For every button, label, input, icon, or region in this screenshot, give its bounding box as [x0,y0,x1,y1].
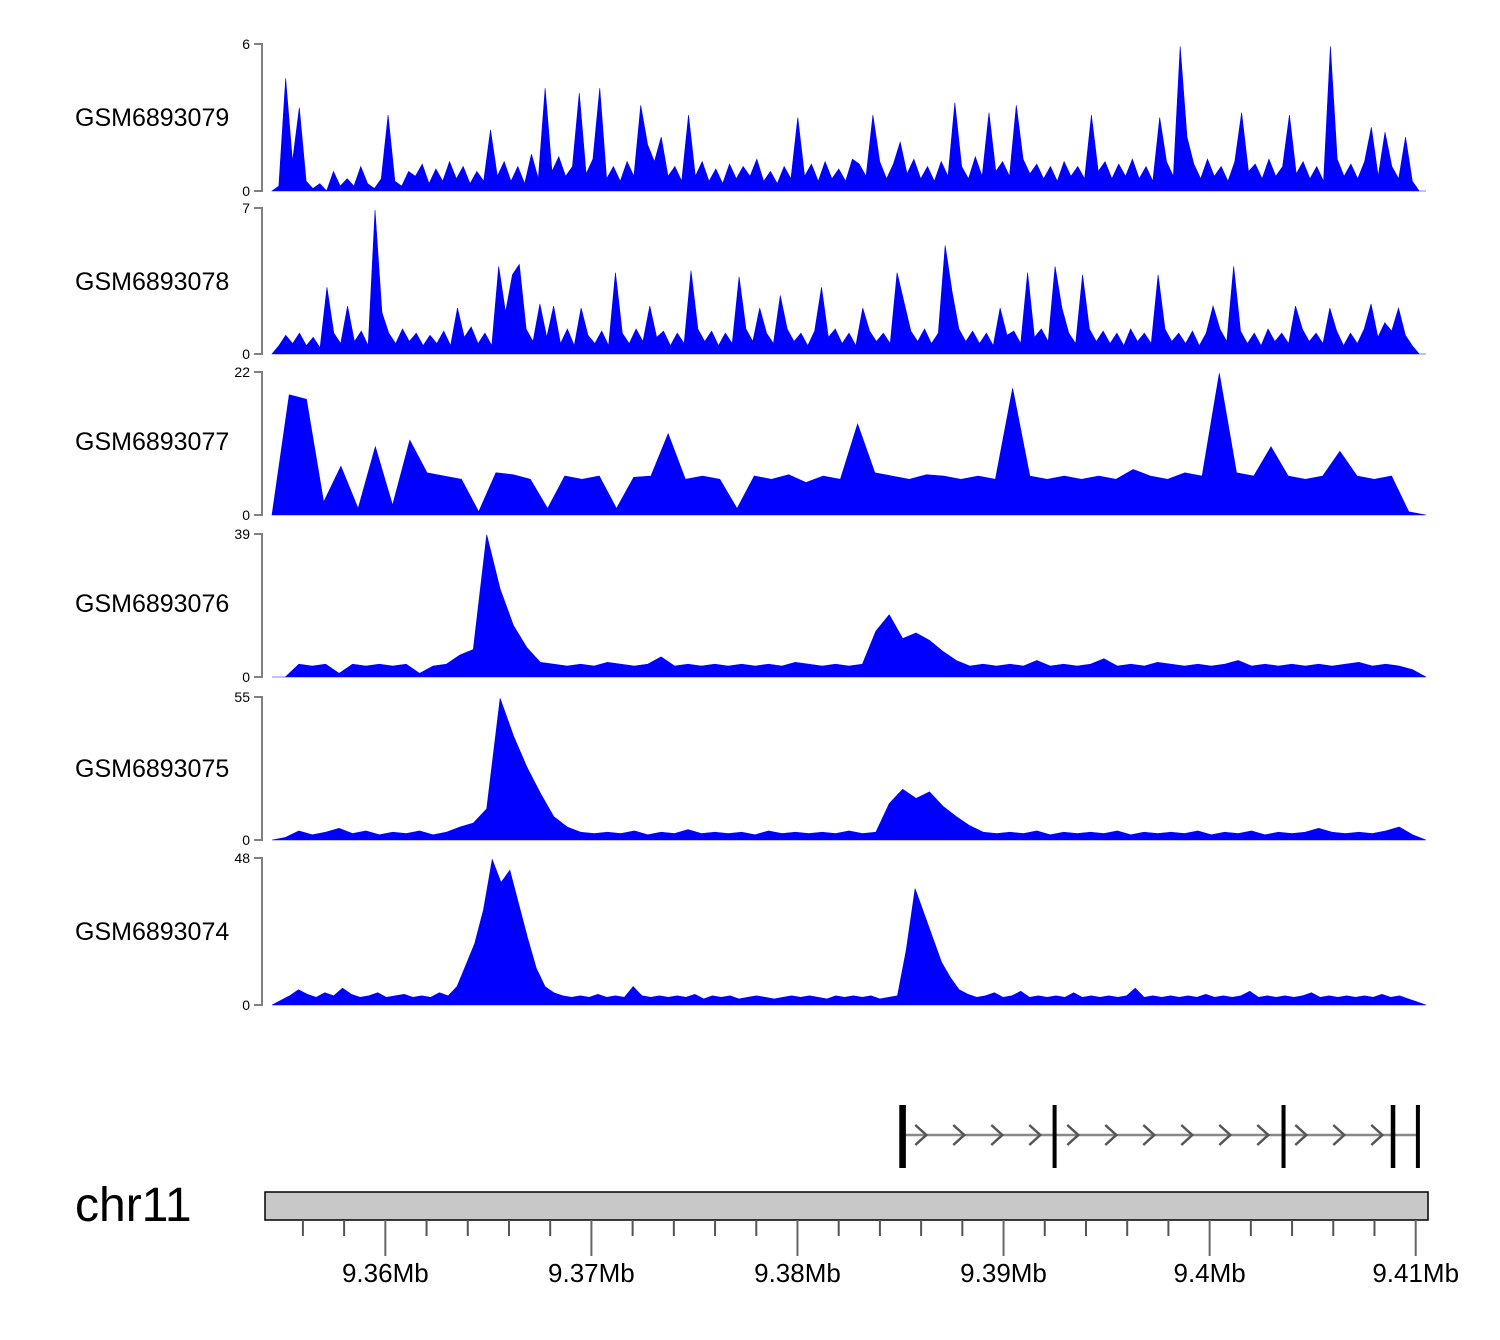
axis-tick-label: 9.41Mb [1372,1258,1459,1288]
coverage-area [272,210,1426,354]
exon-box-1 [899,1105,906,1168]
coverage-area [272,373,1426,515]
track-5: 550 [234,689,1426,848]
coverage-area [272,860,1426,1005]
axis-tick-label: 9.36Mb [342,1258,429,1288]
y-axis-min-label: 0 [242,346,250,362]
exon-box-4 [1391,1105,1396,1168]
axis-tick-label: 9.4Mb [1173,1258,1245,1288]
exon-box-2 [1053,1105,1057,1168]
axis-tick-label: 9.38Mb [754,1258,841,1288]
track-3: 220 [234,364,1426,523]
genome-browser-figure: GSM6893079 GSM6893078 GSM6893077 GSM6893… [0,0,1500,1320]
y-axis-max-label: 6 [242,36,250,52]
y-axis-max-label: 22 [234,364,250,380]
y-axis-max-label: 39 [234,526,250,542]
y-axis-max-label: 55 [234,689,250,705]
y-axis-min-label: 0 [242,997,250,1013]
track-2: 70 [242,200,1426,362]
ideogram-bar [265,1192,1428,1220]
coverage-tracks: 6070220390550480 [0,0,1500,1060]
y-axis-min-label: 0 [242,507,250,523]
gene-model-and-axis: 9.36Mb9.37Mb9.38Mb9.39Mb9.4Mb9.41Mb [0,1060,1500,1340]
y-axis-min-label: 0 [242,183,250,199]
y-axis-min-label: 0 [242,832,250,848]
y-axis-max-label: 7 [242,200,250,216]
track-6: 480 [234,850,1426,1013]
axis-tick-label: 9.37Mb [548,1258,635,1288]
exon-box-3 [1282,1105,1286,1168]
exon-box-5 [1416,1105,1420,1168]
y-axis-min-label: 0 [242,669,250,685]
coverage-area [272,698,1426,840]
coverage-area [272,535,1426,677]
coverage-area [272,46,1426,191]
y-axis-max-label: 48 [234,850,250,866]
axis-tick-label: 9.39Mb [960,1258,1047,1288]
track-1: 60 [242,36,1426,199]
track-4: 390 [234,526,1426,685]
chromosome-label: chr11 [75,1178,192,1233]
